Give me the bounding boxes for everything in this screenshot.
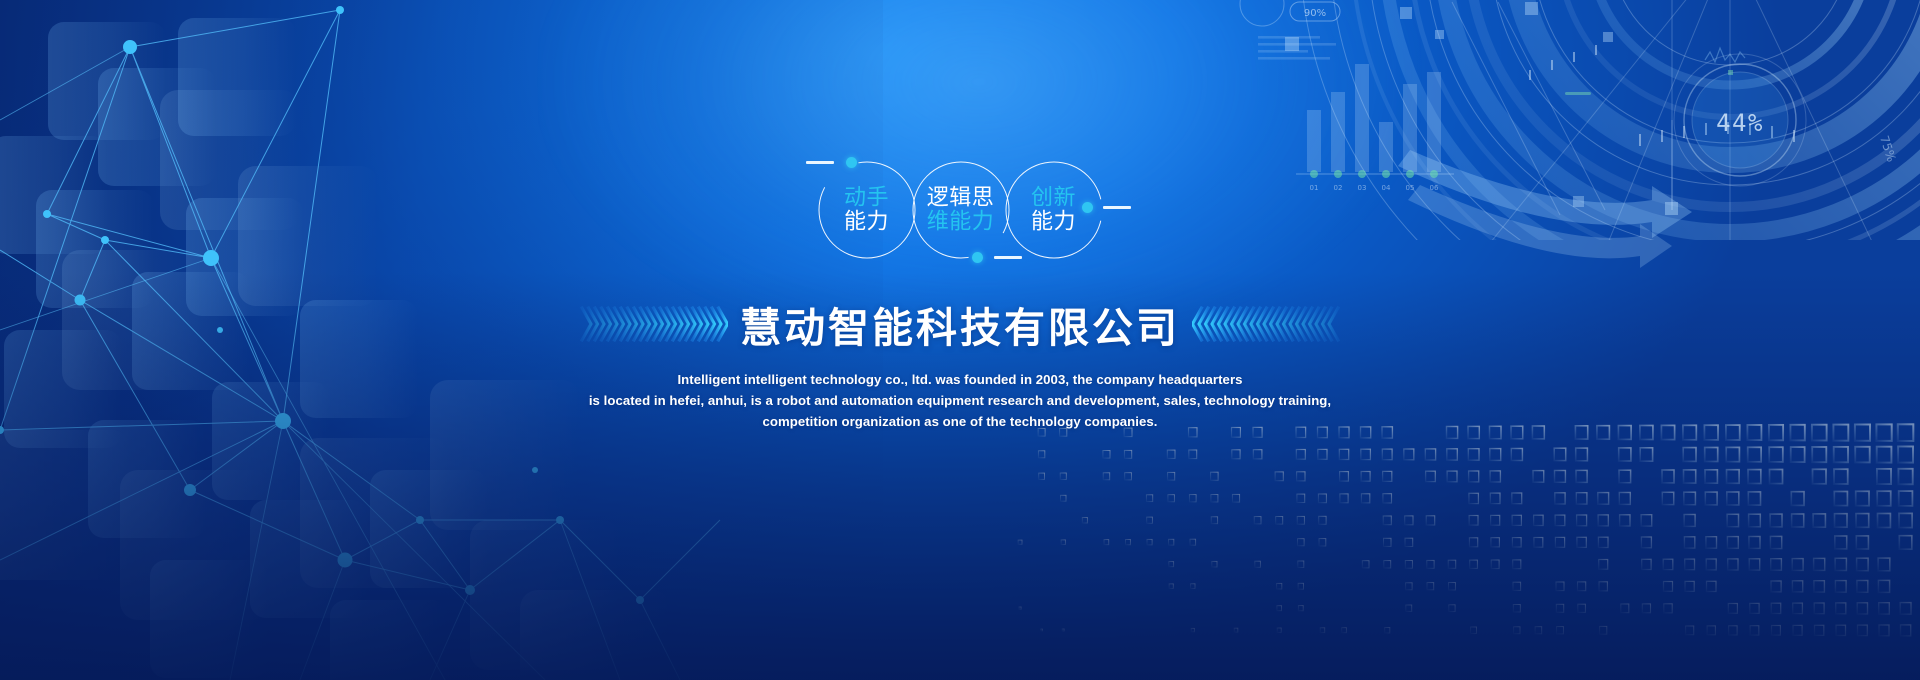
- marker-dot-icon: [846, 157, 857, 168]
- company-title-row: 慧动智能科技有限公司: [578, 294, 1342, 354]
- page-title: 慧动智能科技有限公司: [740, 294, 1180, 354]
- chevron-stack-left-icon: [578, 298, 728, 350]
- company-description: Intelligent intelligent technology co., …: [589, 370, 1331, 433]
- description-line-2: is located in hefei, anhui, is a robot a…: [589, 391, 1331, 412]
- marker-dash: [806, 161, 834, 164]
- marker-dot-icon: [972, 252, 983, 263]
- description-line-3: competition organization as one of the t…: [589, 412, 1331, 433]
- skill-circle-group: 动手 能力 逻辑思 维能力 创新 能力: [818, 148, 1102, 272]
- skill-label: 创新 能力: [994, 186, 1114, 233]
- skill-line-1: 创新: [994, 186, 1114, 210]
- description-line-1: Intelligent intelligent technology co., …: [589, 370, 1331, 391]
- hero-banner: 44% 75% 90%: [0, 0, 1920, 680]
- skill-line-2: 能力: [994, 210, 1114, 234]
- chevron-stack-right-icon: [1192, 298, 1342, 350]
- skill-circle-innovation[interactable]: 创新 能力: [1005, 148, 1102, 272]
